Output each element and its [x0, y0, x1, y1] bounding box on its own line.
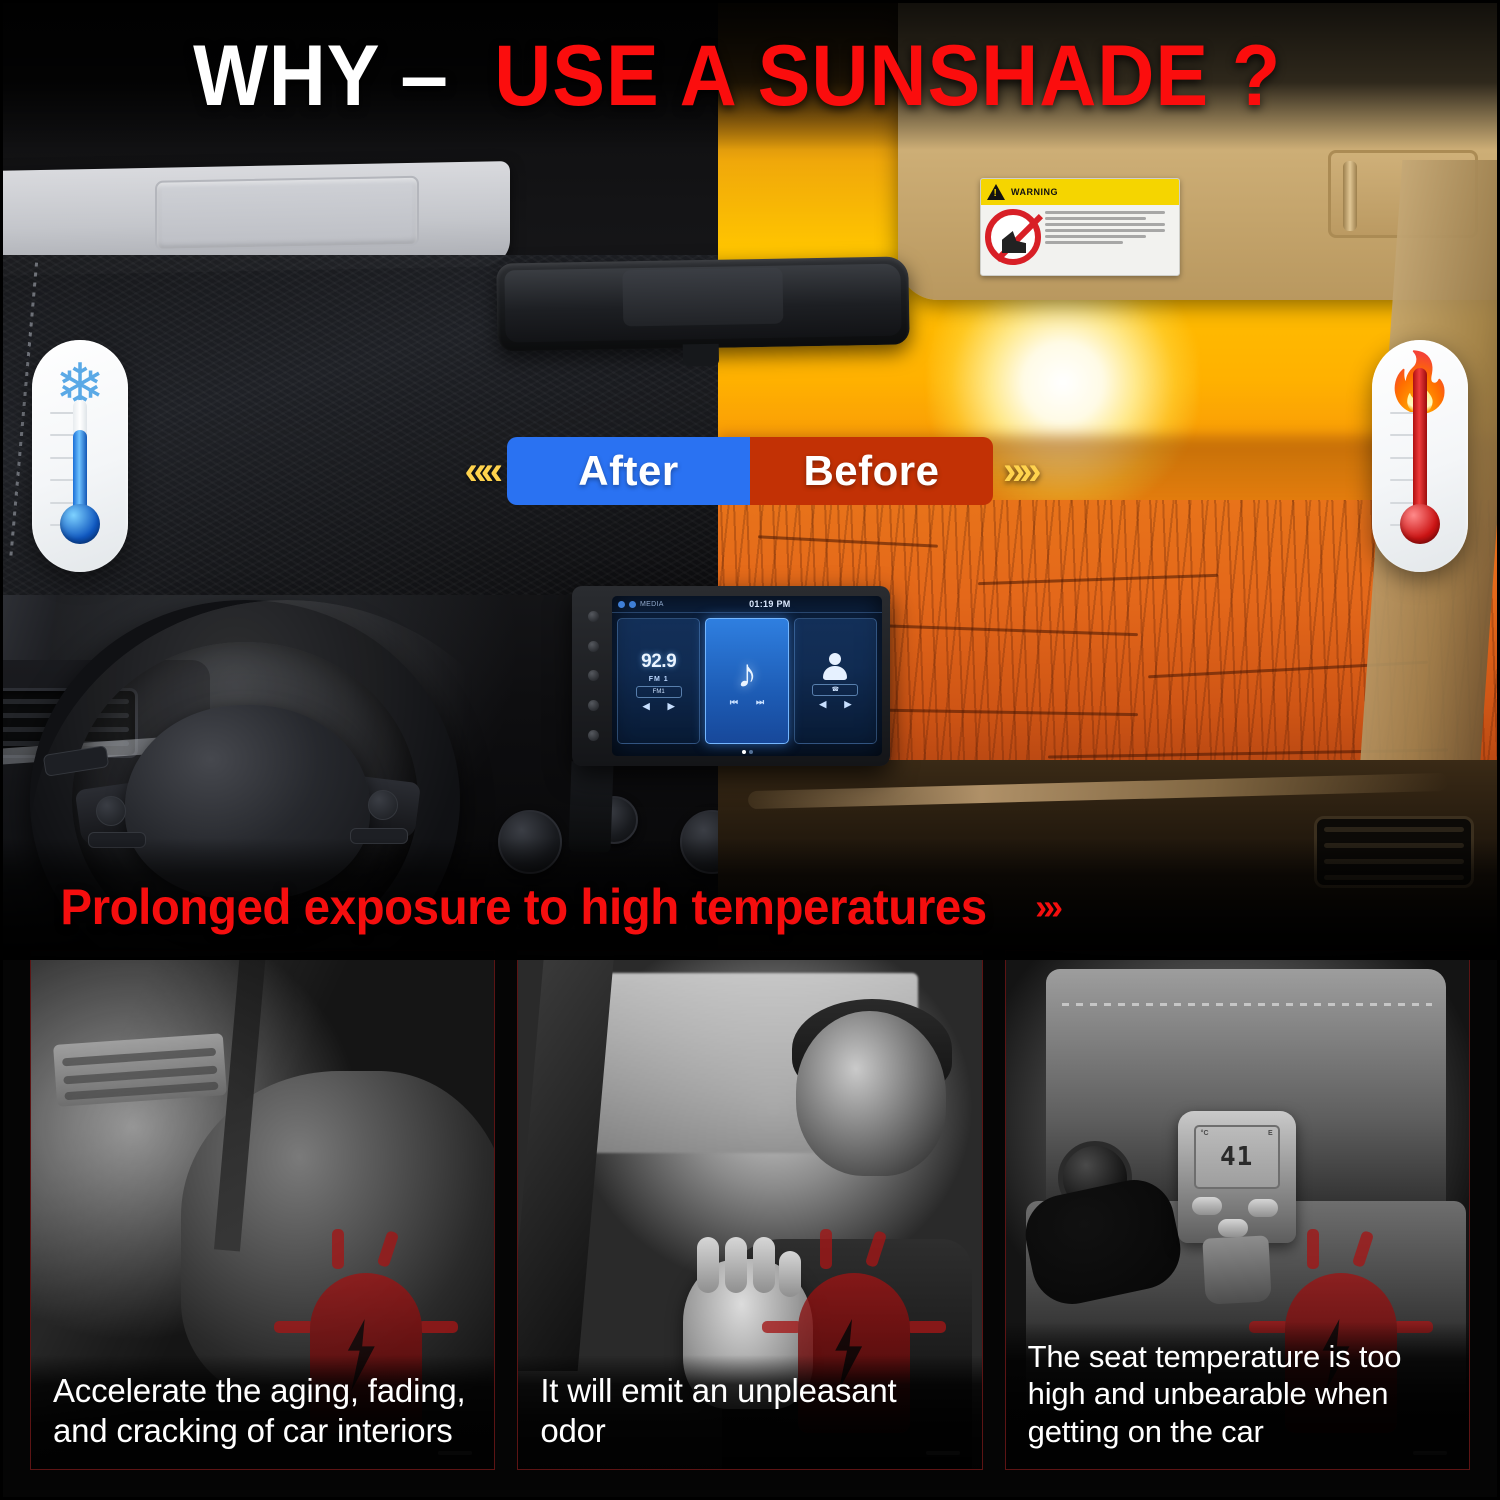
- after-badge[interactable]: After: [507, 437, 750, 505]
- panel-aging: Accelerate the aging, fading, and cracki…: [30, 950, 495, 1470]
- panel-seat-temp-caption: The seat temperature is too high and unb…: [1006, 1322, 1469, 1469]
- hard-button-3[interactable]: [588, 670, 599, 681]
- music-note-icon: ♪: [737, 654, 757, 694]
- thermometer-cold: ❄: [32, 340, 128, 572]
- benefit-panels: Accelerate the aging, fading, and cracki…: [0, 950, 1500, 1500]
- radio-prev-button[interactable]: ◀: [643, 701, 650, 712]
- warning-heading: WARNING: [1011, 187, 1058, 197]
- dash-vent-photo: [53, 1033, 227, 1107]
- door-pillar-photo: [517, 951, 614, 1371]
- radio-band: FM 1: [649, 676, 669, 683]
- panel-aging-caption: Accelerate the aging, fading, and cracki…: [31, 1355, 494, 1470]
- hard-button-2[interactable]: [588, 641, 599, 652]
- profile-nav-controls[interactable]: ◀ ▶: [819, 699, 851, 710]
- before-after-badges: «« After Before »»: [0, 428, 1500, 514]
- infotainment-unit: MEDIA 01:19 PM 92.9 FM 1 FM1 ◀ ▶: [572, 586, 890, 766]
- panel-odor-caption: It will emit an unpleasant odor: [518, 1355, 981, 1470]
- media-tile[interactable]: ♪ ⏮ ⏭: [705, 618, 788, 744]
- radio-next-button[interactable]: ▶: [668, 701, 675, 712]
- rearview-mirror: [496, 256, 909, 351]
- thermometer-reading: 41: [1220, 1142, 1253, 1172]
- mirror-glass: [504, 264, 901, 343]
- before-badge[interactable]: Before: [750, 437, 993, 505]
- screen-tiles: 92.9 FM 1 FM1 ◀ ▶ ♪ ⏮ ⏭: [617, 618, 877, 744]
- product-infographic: WARNING: [0, 0, 1500, 1500]
- hard-button-5[interactable]: [588, 730, 599, 741]
- media-next-button[interactable]: ⏭: [756, 697, 764, 708]
- profile-icon: [822, 653, 848, 681]
- chevron-right-icon: »»: [993, 451, 1046, 491]
- mirror-stem: [683, 344, 719, 367]
- steering-button-left-1: [96, 796, 126, 826]
- steering-button-right-1: [368, 790, 398, 820]
- thermometer-gun-grip: [1202, 1235, 1271, 1304]
- screen-status-bar: MEDIA 01:19 PM: [612, 596, 882, 613]
- seat-stitching-photo: [1062, 1003, 1432, 1006]
- warning-bar: WARNING: [981, 179, 1179, 205]
- settings-icon: [629, 601, 636, 608]
- radio-frequency: 92.9: [641, 651, 676, 673]
- radio-tile[interactable]: 92.9 FM 1 FM1 ◀ ▶: [617, 618, 700, 744]
- chevron-left-icon: ««: [455, 451, 508, 491]
- status-icons: MEDIA: [618, 601, 664, 608]
- display-mini-labels: °CE: [1201, 1130, 1273, 1137]
- profile-tile[interactable]: ☎ ◀ ▶: [794, 618, 877, 744]
- thermometer-hot-mercury: [1413, 368, 1427, 516]
- infotainment-screen[interactable]: MEDIA 01:19 PM 92.9 FM 1 FM1 ◀ ▶: [612, 596, 882, 756]
- bluetooth-icon: [618, 601, 625, 608]
- warning-text-lines: [1045, 209, 1175, 265]
- infrared-thermometer: °CE 41: [1178, 1111, 1296, 1301]
- warning-body: [981, 205, 1179, 269]
- subhead-text: Prolonged exposure to high temperatures: [60, 878, 986, 936]
- visor-clip: [180, 191, 196, 239]
- panel-odor: It will emit an unpleasant odor: [517, 950, 982, 1470]
- thermometer-gun-display: °CE 41: [1194, 1125, 1280, 1189]
- mirror-reflection-seat: [622, 268, 783, 327]
- subhead-chevrons-icon: ›››: [1035, 886, 1059, 928]
- profile-prev-button[interactable]: ◀: [819, 699, 826, 710]
- title-backdrop: [0, 0, 1500, 150]
- panel-seat-temp: °CE 41 The seat temperature is too high …: [1005, 950, 1470, 1470]
- no-child-seat-icon: [985, 209, 1041, 265]
- thermometer-cold-bulb: [60, 504, 100, 544]
- subhead: Prolonged exposure to high temperatures …: [36, 872, 1436, 942]
- screen-source-title: MEDIA: [640, 601, 664, 608]
- phone-shortcut[interactable]: ☎: [812, 684, 858, 696]
- airbag-warning-label: WARNING: [980, 178, 1180, 276]
- profile-next-button[interactable]: ▶: [844, 699, 851, 710]
- infotainment-hard-buttons[interactable]: [580, 602, 606, 750]
- warning-triangle-icon: [987, 184, 1005, 200]
- radio-preset[interactable]: FM1: [636, 686, 682, 698]
- media-transport-controls[interactable]: ⏮ ⏭: [730, 697, 764, 708]
- media-prev-button[interactable]: ⏮: [730, 697, 738, 708]
- radio-seek-controls[interactable]: ◀ ▶: [643, 701, 675, 712]
- dash-chrome-trim-right: [748, 773, 1448, 809]
- person-head-photo: [796, 1011, 946, 1176]
- hard-button-4[interactable]: [588, 700, 599, 711]
- screen-clock: 01:19 PM: [749, 599, 790, 609]
- thermometer-hot: 🔥: [1372, 340, 1468, 572]
- thermometer-gun-buttons[interactable]: [1192, 1197, 1284, 1237]
- hard-button-1[interactable]: [588, 611, 599, 622]
- page-indicator: [612, 750, 882, 754]
- thermometer-hot-bulb: [1400, 504, 1440, 544]
